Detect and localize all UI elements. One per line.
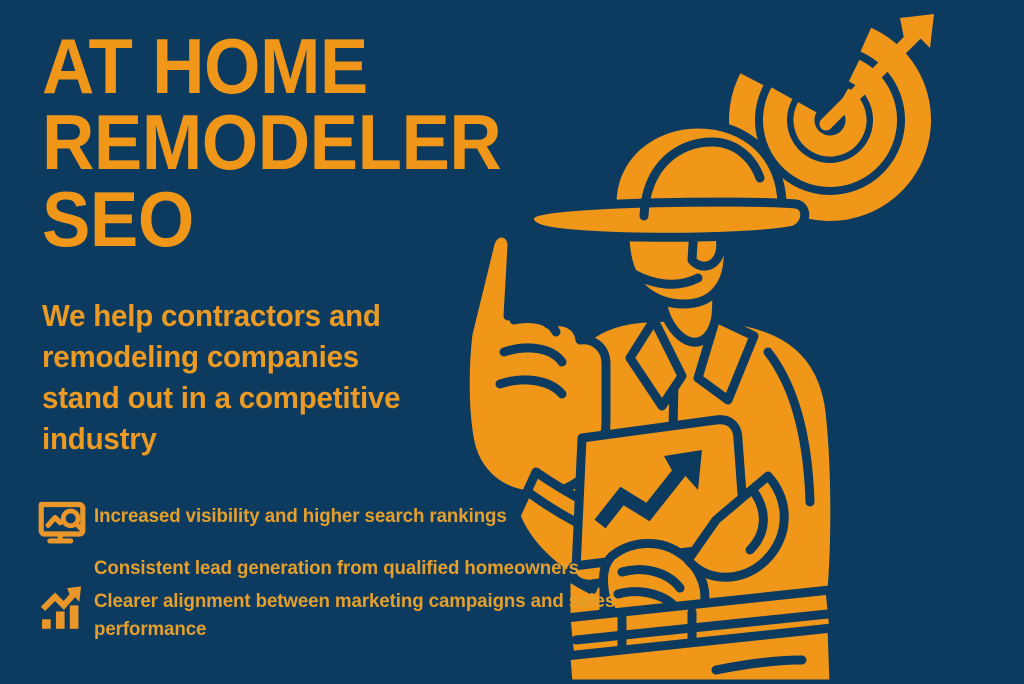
page-title: AT HOME REMODELER SEO: [42, 28, 563, 257]
growth-chart-arrow-icon: [36, 583, 94, 637]
seo-banner: AT HOME REMODELER SEO We help contractor…: [0, 0, 1024, 684]
list-item: Increased visibility and higher search r…: [36, 500, 656, 550]
monitor-search-chart-icon: [36, 496, 94, 550]
worker-hard-hat-brim: [529, 202, 804, 237]
list-item: Consistent lead generation from qualifie…: [36, 552, 656, 583]
list-item-label: Consistent lead generation from qualifie…: [94, 552, 579, 583]
list-item-label: Increased visibility and higher search r…: [94, 500, 507, 531]
subheadline: We help contractors and remodeling compa…: [42, 296, 432, 460]
benefit-list: Increased visibility and higher search r…: [36, 500, 656, 646]
list-item-label: Clearer alignment between marketing camp…: [94, 585, 634, 644]
list-item: Clearer alignment between marketing camp…: [36, 585, 656, 644]
